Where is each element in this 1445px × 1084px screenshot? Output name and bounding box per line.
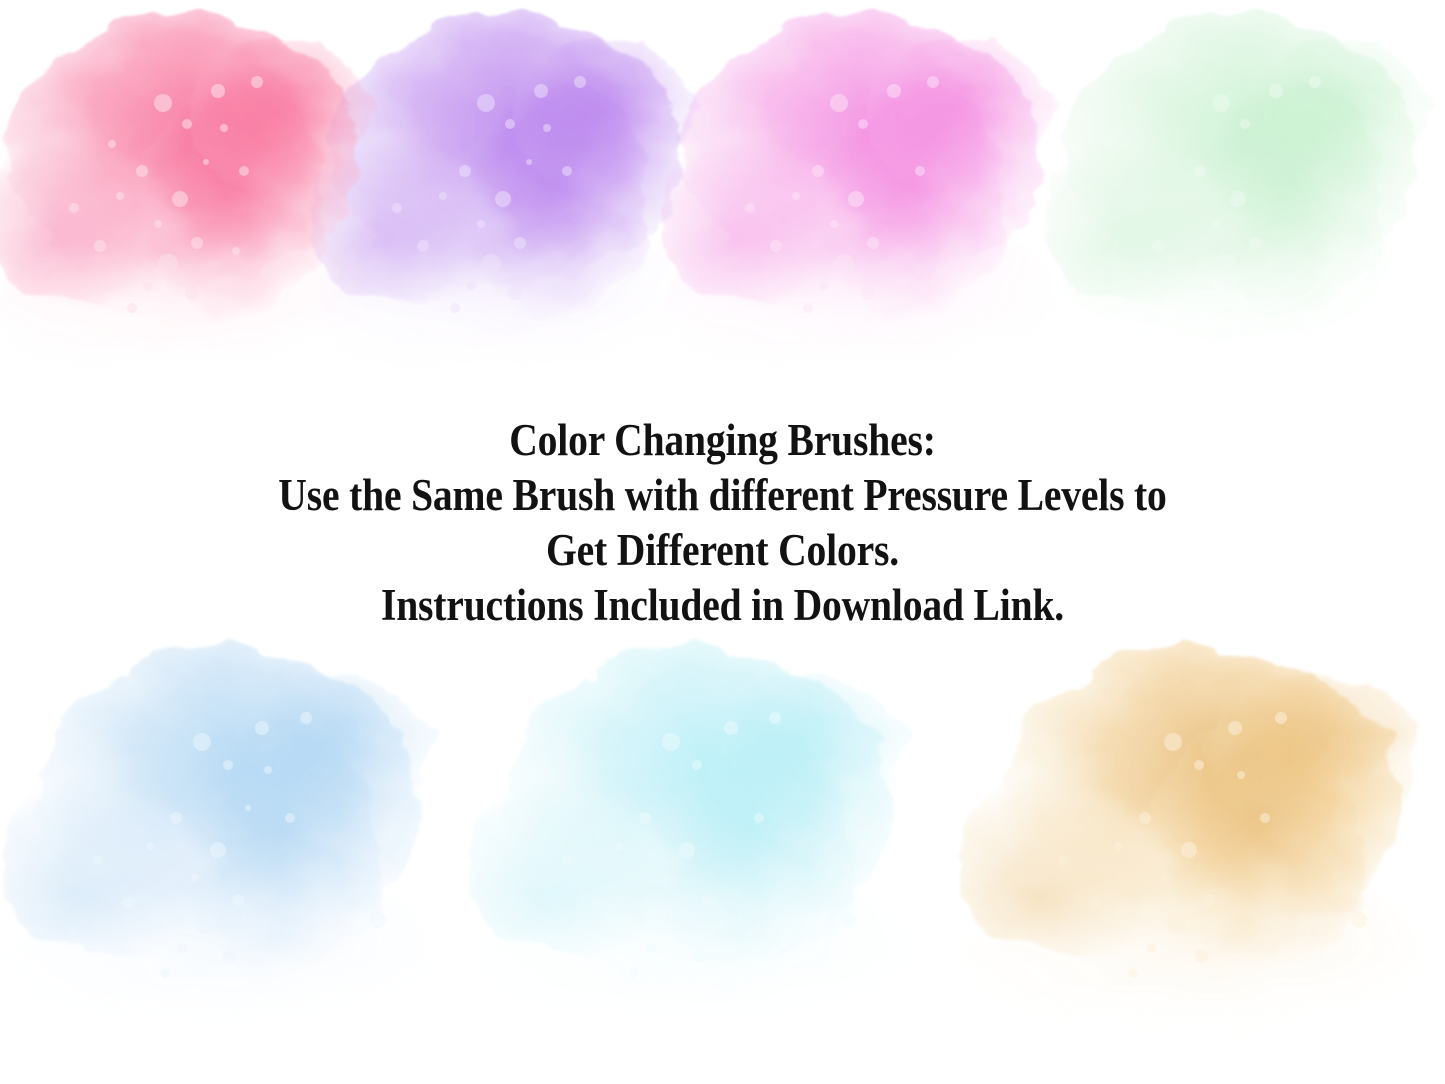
promo-line-3: Get Different Colors. — [87, 523, 1359, 578]
blue-brush-swatch — [0, 620, 460, 1084]
promo-line-4: Instructions Included in Download Link. — [87, 578, 1359, 633]
purple-brush-swatch — [305, 0, 725, 406]
promo-line-2: Use the Same Brush with different Pressu… — [87, 468, 1359, 523]
cyan-brush-swatch — [455, 620, 935, 1084]
pink-brush-swatch — [0, 0, 402, 406]
promo-line-1: Color Changing Brushes: — [87, 413, 1359, 468]
magenta-brush-swatch — [655, 0, 1085, 406]
green-brush-swatch — [1040, 0, 1445, 406]
brush-preview-canvas: Color Changing Brushes: Use the Same Bru… — [0, 0, 1445, 1084]
promo-text-block: Color Changing Brushes: Use the Same Bru… — [0, 413, 1445, 633]
gold-brush-swatch — [945, 620, 1445, 1084]
